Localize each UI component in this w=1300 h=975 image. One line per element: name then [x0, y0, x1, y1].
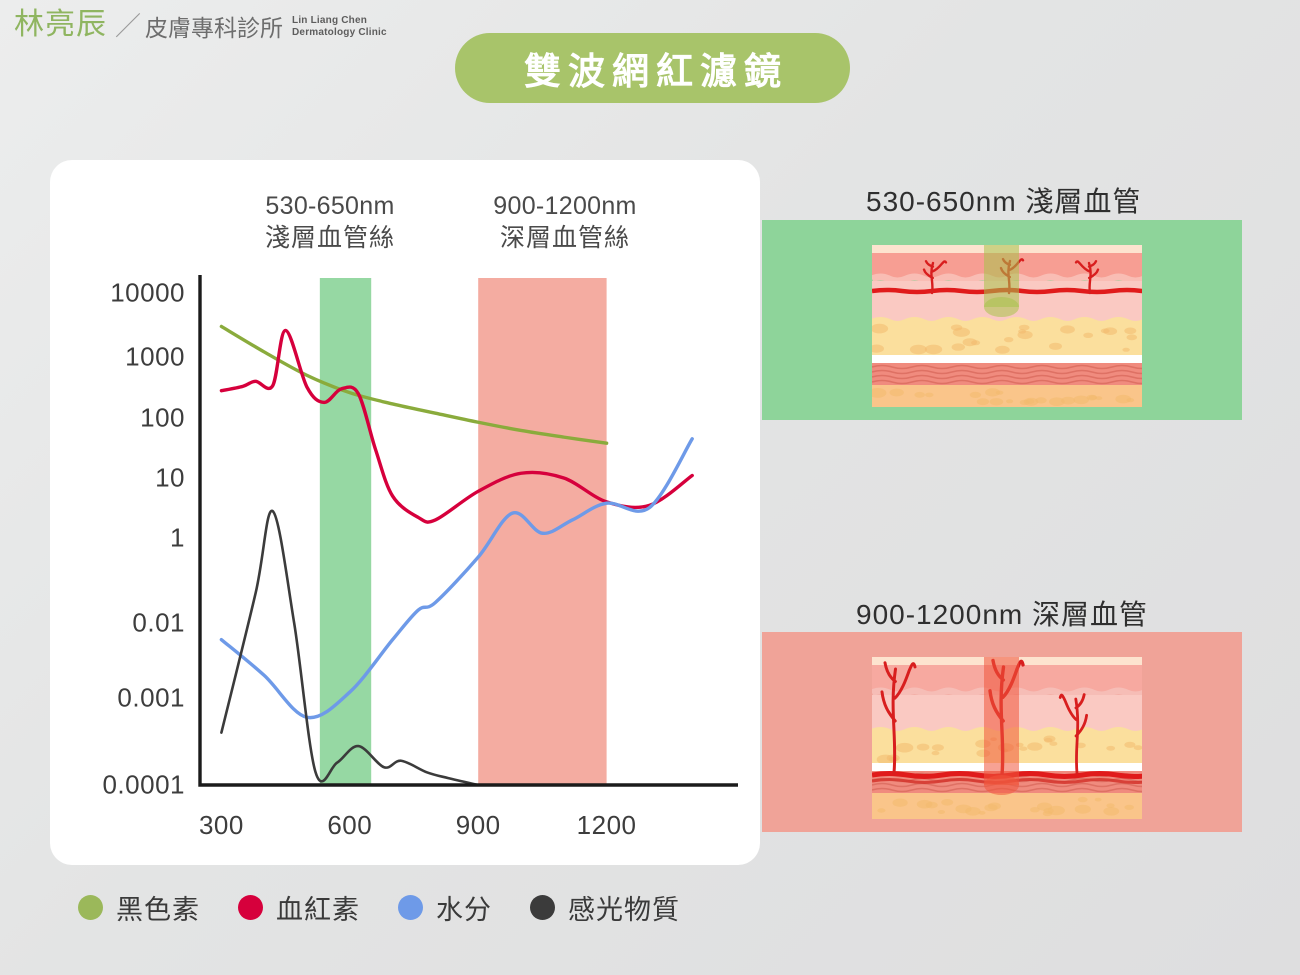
skin-cross-section-deep	[872, 657, 1142, 819]
brand-clinic-cn: 皮膚專科診所	[145, 17, 283, 40]
legend-item-血紅素: 血紅素	[238, 888, 360, 927]
skin-cross-section-shallow	[872, 245, 1142, 407]
y-tick-100: 100	[140, 403, 185, 434]
y-tick-0.001: 0.001	[117, 683, 185, 714]
x-tick-300: 300	[199, 810, 244, 841]
brand-en-line2: Dermatology Clinic	[292, 27, 387, 39]
band-rect-shallow	[320, 278, 371, 785]
legend-dot-icon	[398, 895, 423, 920]
y-tick-1: 1	[170, 523, 185, 554]
legend-item-感光物質: 感光物質	[530, 888, 680, 927]
brand-logo: 林亮辰 ／ 皮膚專科診所 Lin Liang Chen Dermatology …	[14, 10, 387, 40]
page-title: 雙波網紅濾鏡	[517, 41, 788, 95]
legend-label: 感光物質	[568, 888, 680, 927]
legend-dot-icon	[530, 895, 555, 920]
x-tick-1200: 1200	[577, 810, 637, 841]
brand-name-cn: 林亮辰	[14, 10, 107, 40]
y-tick-10: 10	[155, 463, 185, 494]
legend-label: 水分	[436, 888, 492, 927]
panel-title-deep: 900-1200nm 深層血管	[856, 593, 1148, 633]
legend-dot-icon	[78, 895, 103, 920]
y-tick-1000: 1000	[125, 342, 185, 373]
page-title-badge: 雙波網紅濾鏡	[455, 33, 850, 103]
skin-panel-shallow	[762, 220, 1242, 420]
panel-title-shallow: 530-650nm 淺層血管	[866, 180, 1141, 220]
y-tick-10000: 10000	[110, 278, 185, 309]
curve-血紅素	[221, 330, 692, 522]
legend-label: 黑色素	[116, 888, 200, 927]
x-tick-900: 900	[456, 810, 501, 841]
y-axis-tick-labels: 1000010001001010.010.0010.0001	[60, 160, 185, 865]
brand-name-en: Lin Liang Chen Dermatology Clinic	[292, 15, 387, 38]
x-tick-600: 600	[327, 810, 372, 841]
curve-水分	[221, 439, 692, 718]
legend-item-黑色素: 黑色素	[78, 888, 200, 927]
y-tick-0.01: 0.01	[132, 608, 185, 639]
chart-card: 530-650nm 淺層血管絲 900-1200nm 深層血管絲 1000010…	[50, 160, 760, 865]
brand-en-line1: Lin Liang Chen	[292, 15, 387, 27]
skin-panel-deep	[762, 632, 1242, 832]
legend-label: 血紅素	[276, 888, 360, 927]
legend-item-水分: 水分	[398, 888, 492, 927]
x-axis-tick-labels: 3006009001200	[50, 810, 760, 850]
chart-legend: 黑色素血紅素水分感光物質	[78, 888, 718, 927]
legend-dot-icon	[238, 895, 263, 920]
brand-separator: ／	[115, 13, 141, 39]
y-tick-0.0001: 0.0001	[102, 770, 185, 801]
